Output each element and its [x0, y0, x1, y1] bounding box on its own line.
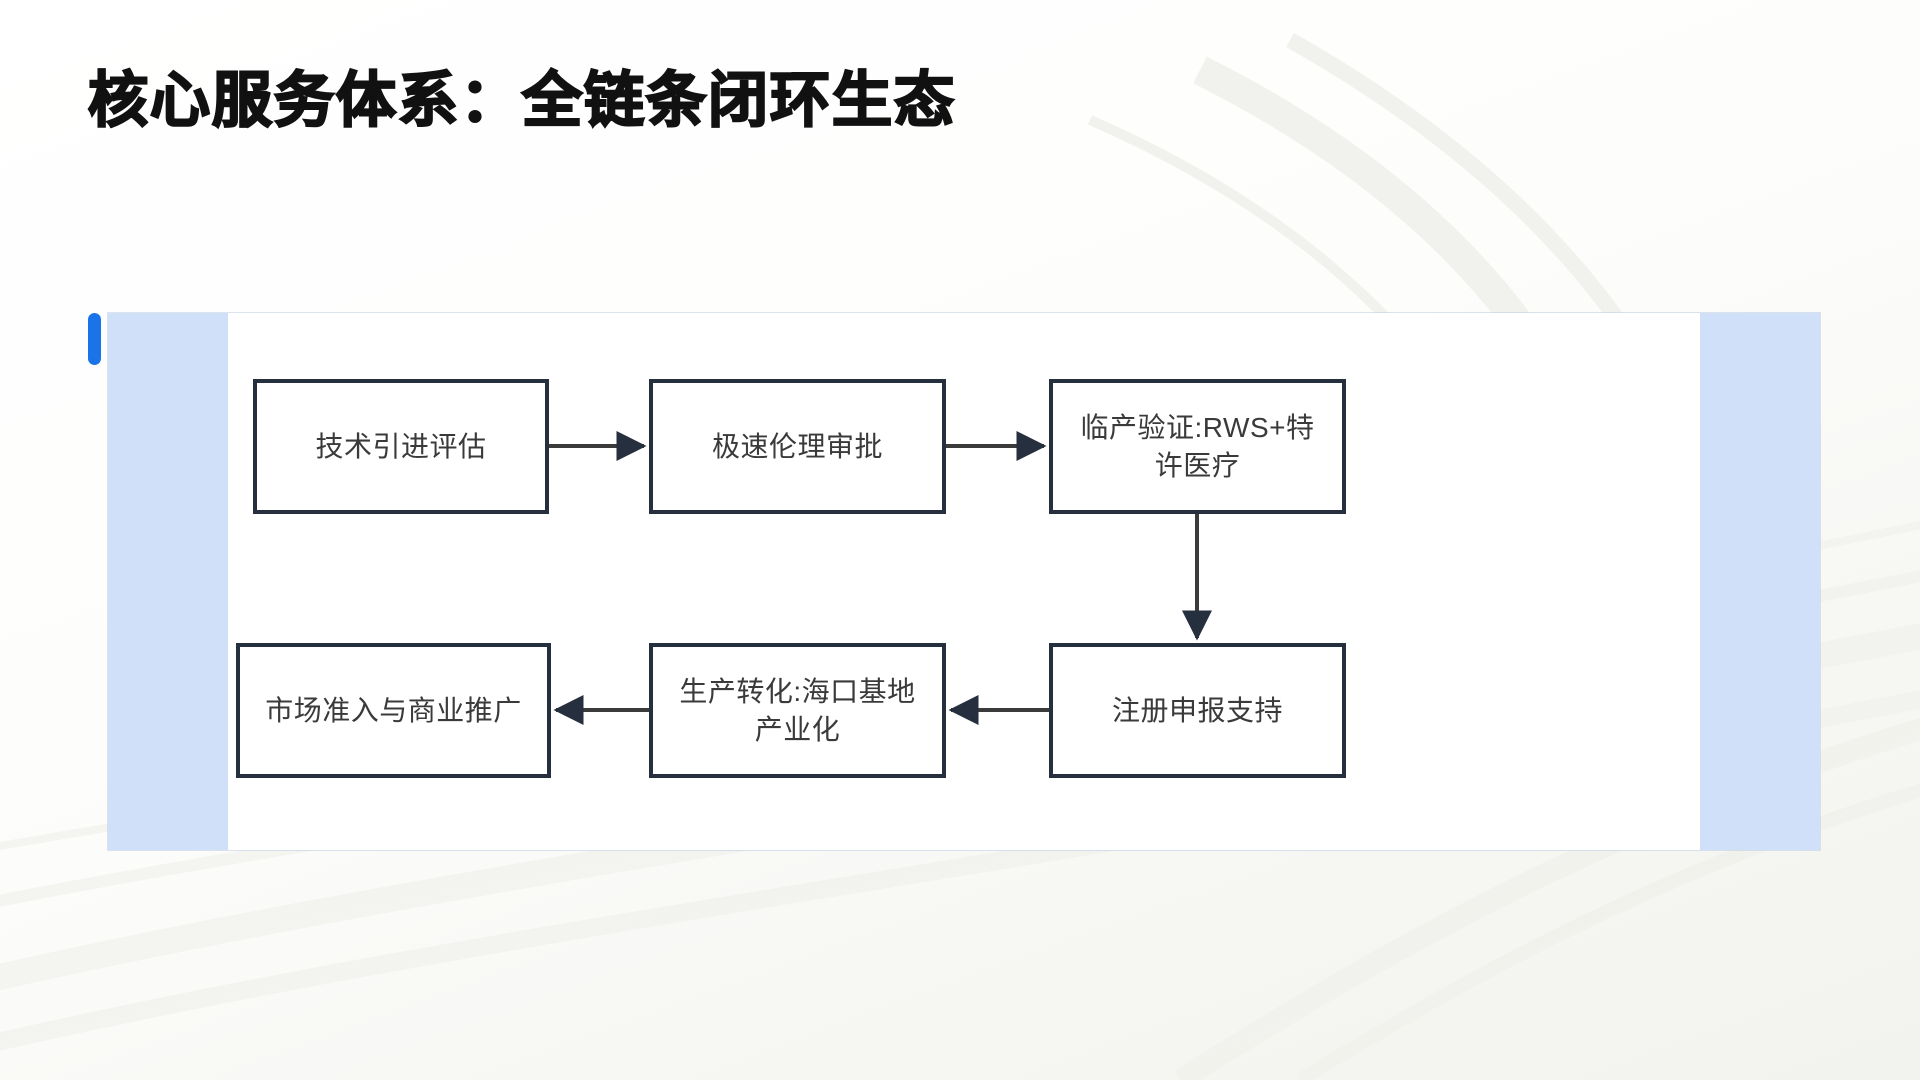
accent-bar — [88, 313, 101, 365]
flow-node-registration-support[interactable]: 注册申报支持 — [1049, 643, 1346, 778]
flow-node-label: 技术引进评估 — [315, 428, 486, 466]
flow-node-label: 市场准入与商业推广 — [265, 692, 522, 730]
flow-diagram: 技术引进评估 极速伦理审批 临产验证:RWS+特许医疗 注册申报支持 生产转化:… — [108, 313, 1820, 850]
flow-node-market-access[interactable]: 市场准入与商业推广 — [236, 643, 551, 778]
flow-node-production-transformation[interactable]: 生产转化:海口基地产业化 — [649, 643, 946, 778]
page-title: 核心服务体系：全链条闭环生态 — [88, 68, 956, 135]
flow-node-ethics-approval[interactable]: 极速伦理审批 — [649, 379, 946, 514]
flow-node-label: 生产转化:海口基地产业化 — [667, 673, 928, 748]
flow-node-label: 临产验证:RWS+特许医疗 — [1067, 409, 1328, 484]
flow-node-technology-assessment[interactable]: 技术引进评估 — [253, 379, 549, 514]
flow-node-label: 极速伦理审批 — [712, 428, 883, 466]
flow-node-label: 注册申报支持 — [1112, 692, 1283, 730]
flow-node-clinical-validation[interactable]: 临产验证:RWS+特许医疗 — [1049, 379, 1346, 514]
